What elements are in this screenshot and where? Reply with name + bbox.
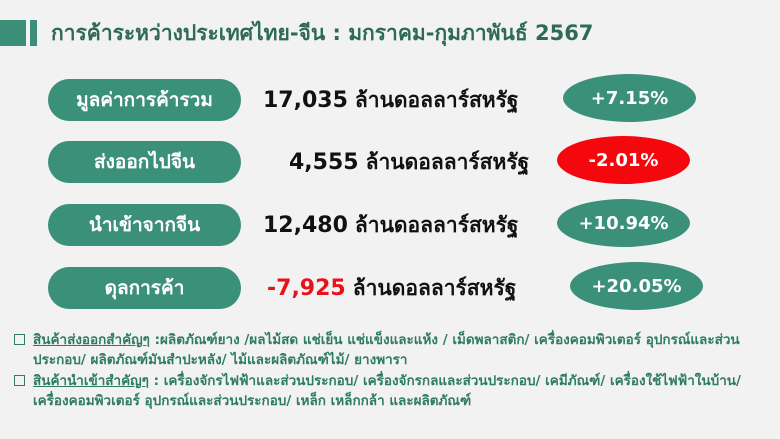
stat-label-exports: ส่งออกไปจีน bbox=[48, 141, 241, 183]
stat-label-trade-balance: ดุลการค้า bbox=[48, 267, 241, 309]
stat-value-imports: 12,480 ล้านดอลลาร์สหรัฐ bbox=[263, 209, 519, 242]
stat-badge-exports: -2.01% bbox=[557, 136, 690, 184]
stat-unit-total-trade: ล้านดอลลาร์สหรัฐ bbox=[355, 84, 519, 117]
stat-unit-trade-balance: ล้านดอลลาร์สหรัฐ bbox=[353, 272, 517, 305]
title-block-wide-icon bbox=[0, 20, 26, 46]
page-title-row: การค้าระหว่างประเทศไทย-จีน : มกราคม-กุมภ… bbox=[0, 18, 593, 48]
stat-value-exports: 4,555 ล้านดอลลาร์สหรัฐ bbox=[289, 146, 529, 179]
footnote-key-exports: สินค้าส่งออกสำคัญๆ :ผลิตภัณฑ์ยาง /ผลไม้ส… bbox=[14, 330, 774, 370]
footnote-body-imports: สินค้านำเข้าสำคัญๆ : เครื่องจักรไฟฟ้าและ… bbox=[33, 371, 774, 411]
stat-unit-imports: ล้านดอลลาร์สหรัฐ bbox=[355, 209, 519, 242]
stat-badge-trade-balance: +20.05% bbox=[570, 262, 703, 310]
stat-number-total-trade: 17,035 bbox=[263, 88, 348, 113]
stat-label-imports: นำเข้าจากจีน bbox=[48, 204, 241, 246]
stat-number-imports: 12,480 bbox=[263, 213, 348, 238]
stat-value-total-trade: 17,035 ล้านดอลลาร์สหรัฐ bbox=[263, 84, 519, 117]
footnote-heading-exports: สินค้าส่งออกสำคัญๆ bbox=[33, 332, 150, 348]
footnote-key-imports: สินค้านำเข้าสำคัญๆ : เครื่องจักรไฟฟ้าและ… bbox=[14, 371, 774, 411]
page-title: การค้าระหว่างประเทศไทย-จีน : มกราคม-กุมภ… bbox=[51, 17, 593, 50]
checkbox-bullet-icon bbox=[14, 334, 25, 345]
footnotes: สินค้าส่งออกสำคัญๆ :ผลิตภัณฑ์ยาง /ผลไม้ส… bbox=[14, 330, 774, 412]
footnote-heading-imports: สินค้านำเข้าสำคัญๆ bbox=[33, 373, 149, 389]
stat-number-trade-balance: -7,925 bbox=[267, 276, 346, 301]
stat-value-trade-balance: -7,925 ล้านดอลลาร์สหรัฐ bbox=[267, 272, 516, 305]
stat-number-exports: 4,555 bbox=[289, 150, 359, 175]
stat-label-total-trade: มูลค่าการค้ารวม bbox=[48, 79, 241, 121]
title-block-narrow-icon bbox=[30, 20, 37, 46]
stat-unit-exports: ล้านดอลลาร์สหรัฐ bbox=[366, 146, 530, 179]
checkbox-bullet-icon bbox=[14, 375, 25, 386]
stat-badge-total-trade: +7.15% bbox=[563, 74, 696, 122]
stat-badge-imports: +10.94% bbox=[557, 199, 690, 247]
footnote-body-exports: สินค้าส่งออกสำคัญๆ :ผลิตภัณฑ์ยาง /ผลไม้ส… bbox=[33, 330, 774, 370]
